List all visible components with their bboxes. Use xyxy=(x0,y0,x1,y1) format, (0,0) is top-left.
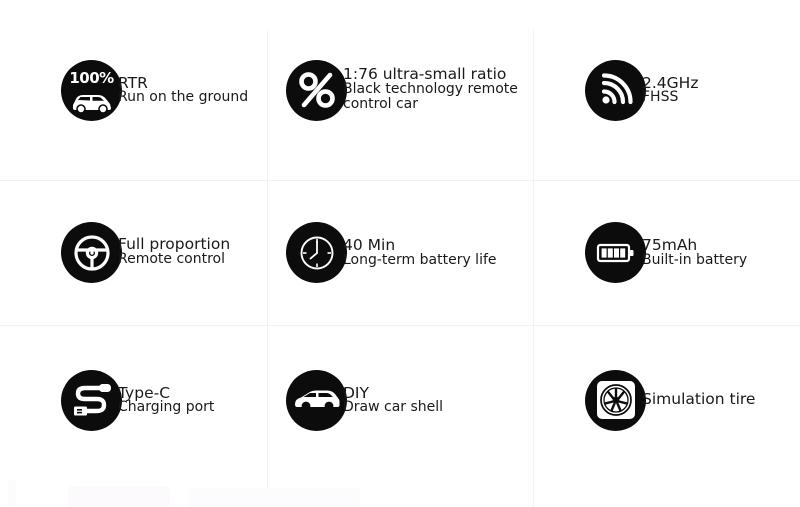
battery-icon xyxy=(585,222,646,283)
watermark-mark-2 xyxy=(68,486,170,507)
feature-cell-diy: DIY Draw car shell xyxy=(267,325,533,475)
grid-divider-vertical-1 xyxy=(267,30,268,507)
feature-cell-tire: Simulation tire xyxy=(533,325,800,475)
feature-cell-rtr: 100% RTR Run on the ground xyxy=(0,0,267,180)
watermark-mark-1 xyxy=(8,480,16,506)
feature-subtitle: Built-in battery xyxy=(642,253,747,267)
feature-text-charging: Type-C Charging port xyxy=(118,386,214,415)
watermark-mark-3 xyxy=(188,488,360,507)
feature-subtitle: Draw car shell xyxy=(343,400,443,414)
feature-cell-proportion: Full proportion Remote control xyxy=(0,180,267,325)
feature-text-runtime: 40 Min Long-term battery life xyxy=(343,238,497,267)
feature-subtitle: Remote control xyxy=(118,252,267,268)
grid-divider-vertical-2 xyxy=(533,30,534,507)
car-100-percent-icon: 100% xyxy=(61,60,122,121)
feature-text-rtr: RTR Run on the ground xyxy=(118,76,248,105)
feature-text-proportion: Full proportion Remote control xyxy=(118,237,267,267)
feature-text-ratio: 1:76 ultra-small ratio Black technology … xyxy=(343,67,519,113)
usb-cable-icon xyxy=(61,370,122,431)
feature-text-tire: Simulation tire xyxy=(642,392,755,408)
grid-divider-horizontal-2 xyxy=(0,325,800,326)
feature-cell-frequency: 2.4GHz FHSS xyxy=(533,0,800,180)
feature-subtitle: FHSS xyxy=(642,90,698,104)
feature-text-battery: 75mAh Built-in battery xyxy=(642,238,747,267)
percent-icon xyxy=(286,60,347,121)
feature-subtitle: Long-term battery life xyxy=(343,253,497,267)
feature-subtitle: Run on the ground xyxy=(118,90,248,104)
feature-text-frequency: 2.4GHz FHSS xyxy=(642,76,698,105)
feature-cell-charging: Type-C Charging port xyxy=(0,325,267,475)
feature-grid: 100% RTR Run on the ground xyxy=(0,0,800,475)
clock-icon xyxy=(286,222,347,283)
feature-subtitle: Charging port xyxy=(118,400,214,414)
tire-wheel-icon xyxy=(585,370,646,431)
feature-text-diy: DIY Draw car shell xyxy=(343,386,443,415)
wifi-signal-icon xyxy=(585,60,646,121)
car-silhouette-icon xyxy=(286,370,347,431)
steering-wheel-icon xyxy=(61,222,122,283)
feature-cell-ratio: 1:76 ultra-small ratio Black technology … xyxy=(267,0,533,180)
grid-divider-horizontal-1 xyxy=(0,180,800,181)
feature-title: Simulation tire xyxy=(642,392,755,408)
feature-subtitle: Black technology remote control car xyxy=(343,82,519,113)
feature-cell-runtime: 40 Min Long-term battery life xyxy=(267,180,533,325)
feature-cell-battery: 75mAh Built-in battery xyxy=(533,180,800,325)
page-bottom-watermark xyxy=(0,472,800,507)
percent-badge-label: 100% xyxy=(61,69,122,87)
